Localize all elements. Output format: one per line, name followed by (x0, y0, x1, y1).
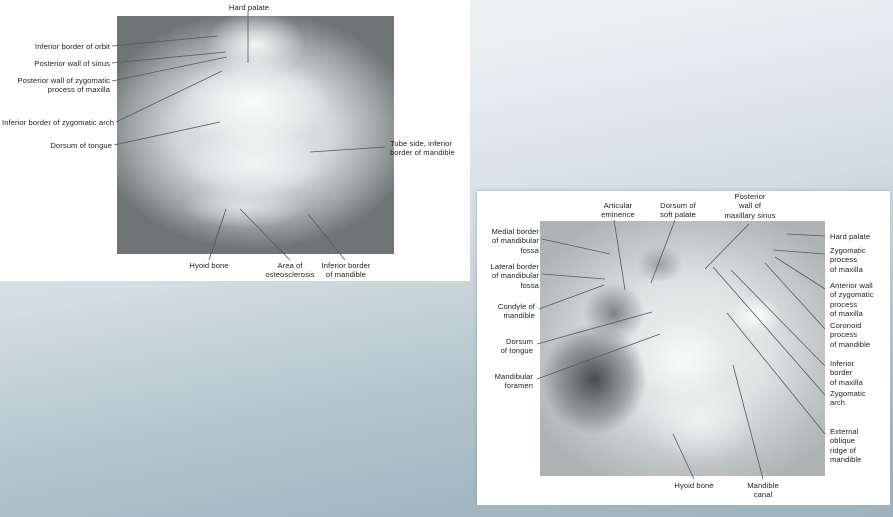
figure-2-label-external-oblique-ridge-of-mandible: External oblique ridge of mandible (830, 427, 890, 464)
figure-2-label-dorsum-of-tongue: Dorsum of tongue (479, 337, 533, 356)
figure-2-label-hyoid-bone: Hyoid bone (664, 481, 724, 490)
figure-1-label-hard-palate: Hard palate (210, 3, 288, 12)
lateral-skull-radiograph-image (540, 221, 825, 476)
panoramic-radiograph-image (117, 16, 394, 254)
figure-2-label-mandibular-foramen: Mandibular foramen (479, 372, 533, 391)
figure-2-label-zygomatic-process-of-maxilla: Zygomatic process of maxilla (830, 246, 890, 274)
figure-2-label-dorsum-of-soft-palate: Dorsum of soft palate (649, 201, 707, 220)
figure-1-label-hyoid-bone: Hyoid bone (172, 261, 246, 270)
figure-2-label-medial-border-of-mandibular-fossa: Medial border of mandibular fossa (479, 227, 539, 255)
figure-1-label-tube-side-inferior-border-of-mandible: Tube side, inferior border of mandible (390, 139, 470, 158)
figure-1-label-dorsum-of-tongue: Dorsum of tongue (0, 141, 112, 150)
figure-2-card: Articular eminence Dorsum of soft palate… (477, 191, 890, 505)
figure-2-label-lateral-border-of-mandibular-fossa: Lateral border of mandibular fossa (479, 262, 539, 290)
figure-2-label-condyle-of-mandible: Condyle of mandible (479, 302, 535, 321)
figure-1-card: Hard palate Inferior border of orbit Pos… (0, 0, 470, 281)
figure-1-label-inferior-border-of-mandible: Inferior border of mandible (311, 261, 381, 280)
figure-1-label-posterior-wall-of-sinus: Posterior wall of sinus (0, 59, 110, 68)
figure-2-label-coronoid-process-of-mandible: Coronoid process of mandible (830, 321, 890, 349)
figure-2-label-inferior-border-of-maxilla: Inferior border of maxilla (830, 359, 890, 387)
figure-2-label-anterior-wall-of-zygomatic-process-of-maxilla: Anterior wall of zygomatic process of ma… (830, 281, 890, 318)
figure-2-label-posterior-wall-of-maxillary-sinus: Posterior wall of maxillary sinus (713, 192, 787, 220)
figure-2-label-zygomatic-arch: Zygomatic arch (830, 389, 890, 408)
figure-2-label-mandible-canal: Mandible canal (735, 481, 791, 500)
figure-2-label-articular-eminence: Articular eminence (590, 201, 646, 220)
figure-1-label-posterior-wall-of-zygomatic-process-of-maxilla: Posterior wall of zygomatic process of m… (0, 76, 110, 95)
figure-2-label-hard-palate: Hard palate (830, 232, 890, 241)
figure-1-label-inferior-border-of-orbit: Inferior border of orbit (0, 42, 110, 51)
figure-1-label-inferior-border-of-zygomatic-arch: Inferior border of zygomatic arch (0, 118, 114, 127)
